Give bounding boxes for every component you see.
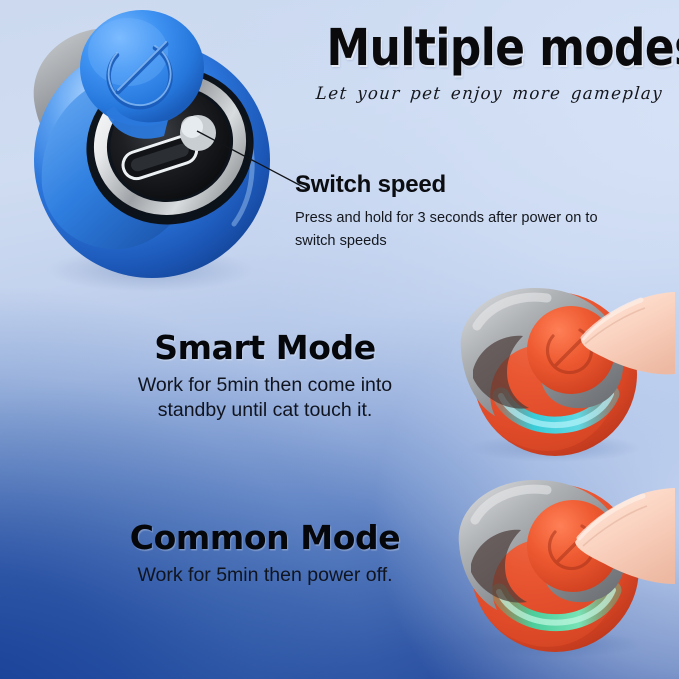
mode-title-common: Common Mode (80, 520, 450, 556)
callout-switch-speed: Switch speed Press and hold for 3 second… (295, 172, 645, 252)
mode-block-common: Common Mode Work for 5min then power off… (80, 520, 450, 588)
leader-line-switch-speed (195, 125, 310, 197)
mode-description-smart-line2: standby until cat touch it. (80, 398, 450, 423)
mode-block-smart: Smart Mode Work for 5min then come into … (80, 330, 450, 423)
mode-description-smart-line1: Work for 5min then come into (80, 373, 450, 398)
headline-block: Multiple modes Let your pet enjoy more g… (300, 22, 679, 103)
callout-switch-speed-description: Press and hold for 3 seconds after power… (295, 207, 635, 251)
product-image-red-ball-smart (443, 278, 675, 460)
page-title: Multiple modes (327, 22, 653, 75)
page-subtitle: Let your pet enjoy more gameplay (299, 84, 679, 104)
mode-title-smart: Smart Mode (80, 330, 450, 366)
product-image-red-ball-common (443, 468, 675, 656)
mode-description-common-line1: Work for 5min then power off. (80, 563, 450, 588)
callout-switch-speed-title: Switch speed (295, 172, 645, 198)
infographic-canvas: Multiple modes Let your pet enjoy more g… (0, 0, 679, 679)
